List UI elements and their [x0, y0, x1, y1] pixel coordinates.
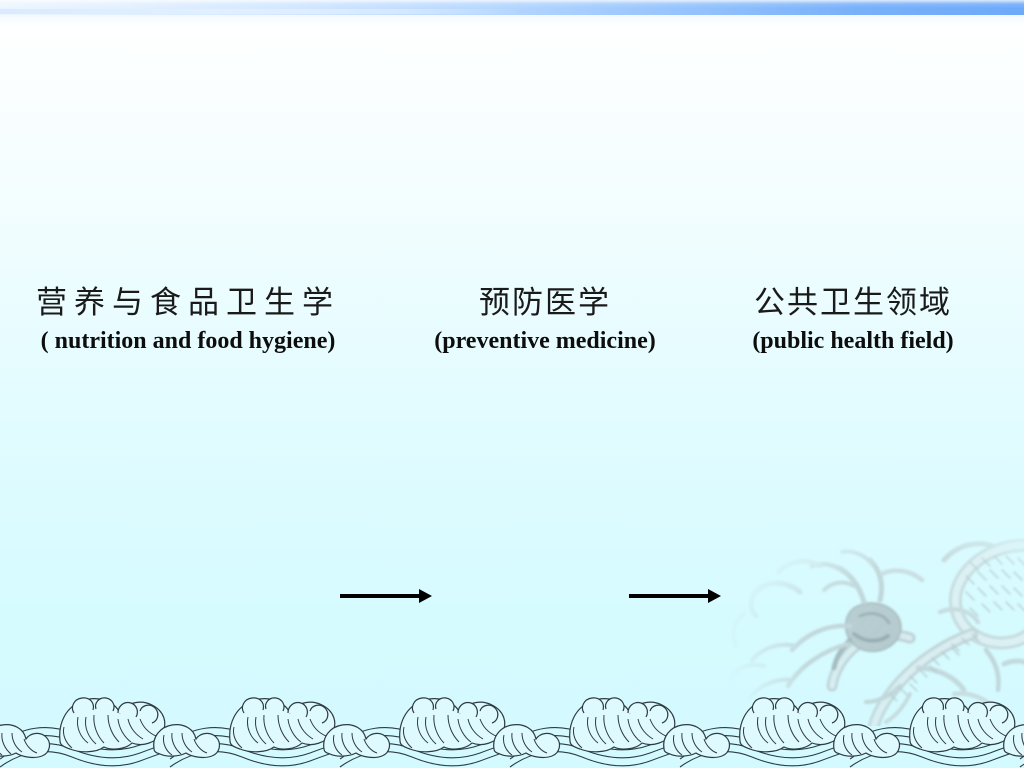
flow-step-public-health: 公共卫生领域 (public health field): [718, 283, 988, 356]
flow-step-preventive-cn: 预防医学: [404, 283, 686, 323]
flow-step-nutrition: 营养与食品卫生学 ( nutrition and food hygiene): [12, 283, 364, 356]
flow-diagram: 营养与食品卫生学 ( nutrition and food hygiene) 预…: [0, 283, 1024, 383]
flow-step-nutrition-cn: 营养与食品卫生学: [12, 283, 364, 323]
wave-border-decoration: [0, 683, 1024, 768]
top-band-streak: [0, 9, 520, 14]
arrow-head: [708, 589, 721, 603]
flow-step-preventive-en: (preventive medicine): [404, 326, 686, 356]
arrow-shaft: [629, 594, 710, 598]
arrow-shaft: [340, 594, 421, 598]
top-band-fade: [0, 15, 1024, 25]
flow-step-nutrition-en: ( nutrition and food hygiene): [12, 326, 364, 356]
arrow-head: [419, 589, 432, 603]
arrow-right-icon: [340, 589, 433, 603]
flow-step-preventive: 预防医学 (preventive medicine): [404, 283, 686, 356]
arrow-right-icon: [629, 589, 722, 603]
slide-canvas: 营养与食品卫生学 ( nutrition and food hygiene) 预…: [0, 0, 1024, 768]
dragon-icon: [704, 516, 1024, 726]
flow-step-public-health-cn: 公共卫生领域: [718, 283, 988, 323]
flow-step-public-health-en: (public health field): [718, 326, 988, 356]
